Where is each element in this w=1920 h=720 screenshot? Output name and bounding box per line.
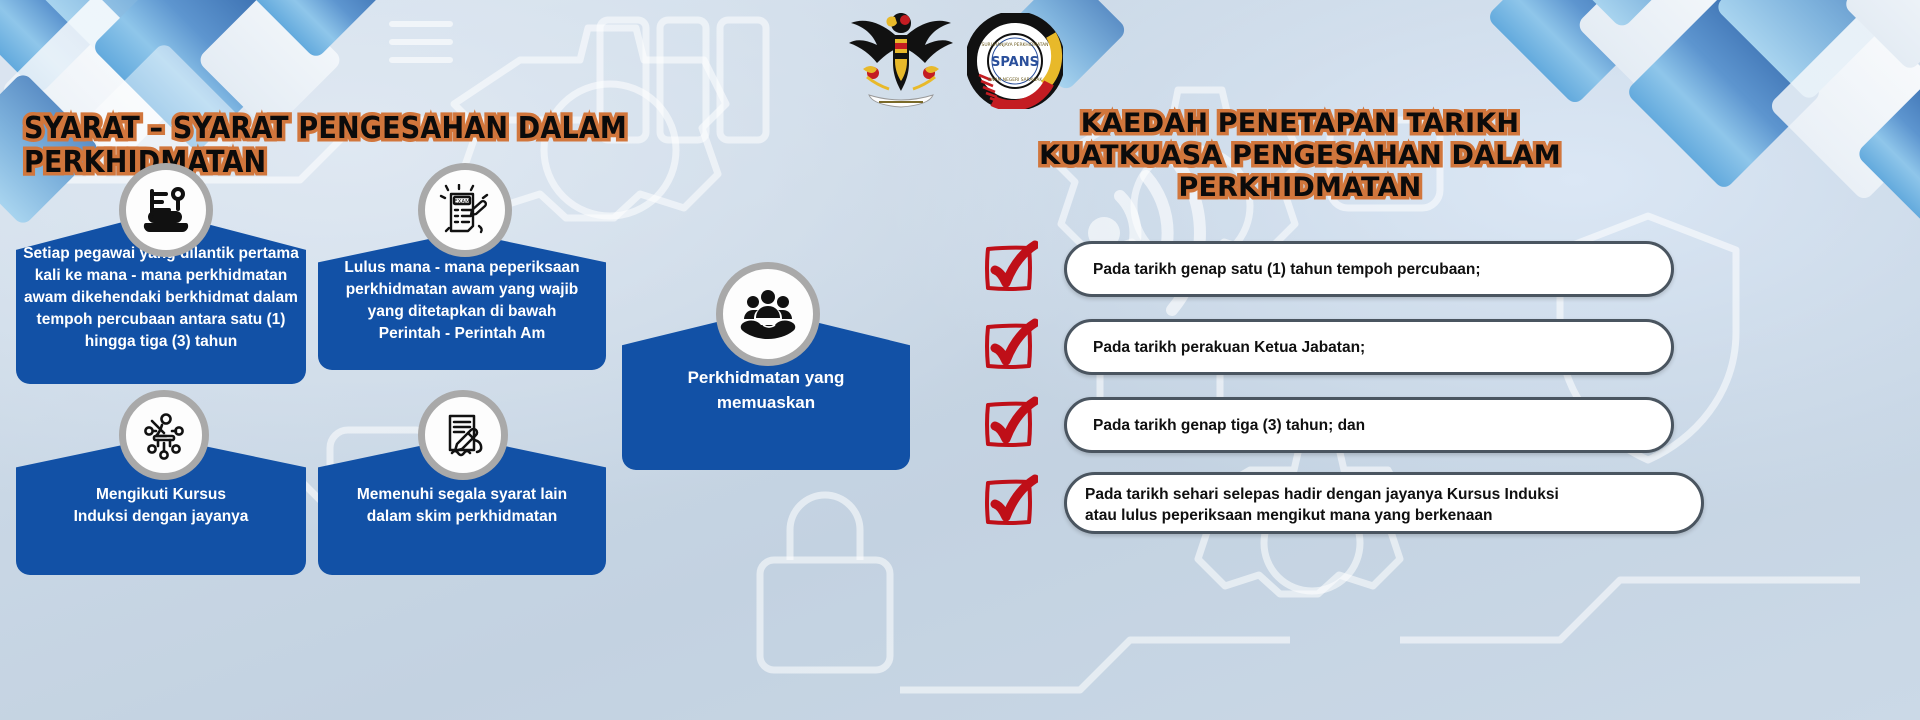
checklist-3-line-1: Pada tarikh genap tiga (3) tahun; dan	[1093, 415, 1365, 436]
card-1-text: Setiap pegawai yang dilantik pertama kal…	[23, 243, 299, 353]
exam-paper-icon: EXAM	[439, 184, 491, 236]
card-2-line-2: perkhidmatan awam yang wajib	[344, 279, 579, 301]
checklist-row-2: Pada tarikh perakuan Ketua Jabatan;	[980, 318, 1880, 376]
red-checkmark-icon	[980, 240, 1038, 298]
card-4-line-2: dalam skim perkhidmatan	[357, 506, 567, 528]
checklist-4-line-1: Pada tarikh sehari selepas hadir dengan …	[1085, 484, 1683, 505]
page-title-right: KAEDAH PENETAPAN TARIKH KUATKUASA PENGES…	[1000, 108, 1600, 204]
checklist-pill-3: Pada tarikh genap tiga (3) tahun; dan	[1064, 397, 1674, 453]
people-in-hands-icon	[739, 287, 797, 341]
training-network-icon-circle	[119, 390, 209, 480]
svg-text:EXAM: EXAM	[454, 199, 470, 205]
card-5-text: Perkhidmatan yang memuaskan	[688, 365, 845, 415]
checklist-row-1: Pada tarikh genap satu (1) tahun tempoh …	[980, 240, 1880, 298]
checklist-pill-2: Pada tarikh perakuan Ketua Jabatan;	[1064, 319, 1674, 375]
checkbox-4[interactable]	[980, 474, 1038, 532]
checklist-row-4: Pada tarikh sehari selepas hadir dengan …	[980, 472, 1900, 534]
svg-text:SPANS: SPANS	[991, 55, 1039, 70]
logo-group: SPANS SURUHANJAYA PERKHIDMATAN AWAM NEGE…	[845, 6, 1075, 116]
checkbox-1[interactable]	[980, 240, 1038, 298]
red-checkmark-icon	[980, 318, 1038, 376]
card-1-line-3: awam dikehendaki berkhidmat dalam	[23, 287, 299, 309]
id-card-icon-circle	[119, 163, 213, 257]
card-1-line-2: kali ke mana - mana perkhidmatan	[23, 265, 299, 287]
id-card-icon	[141, 185, 191, 235]
sarawak-coat-of-arms-icon	[845, 7, 957, 115]
card-4-text: Memenuhi segala syarat lain dalam skim p…	[357, 484, 567, 528]
red-checkmark-icon	[980, 474, 1038, 532]
card-2-line-4: Perintah - Perintah Am	[344, 323, 579, 345]
card-3-line-2: Induksi dengan jayanya	[74, 506, 249, 528]
card-1-line-4: tempoh percubaan antara satu (1)	[23, 309, 299, 331]
card-2-line-3: yang ditetapkan di bawah	[344, 301, 579, 323]
signature-document-icon-circle	[418, 390, 508, 480]
page-title-right-line-3: PERKHIDMATAN	[1000, 172, 1600, 204]
exam-paper-icon-circle: EXAM	[418, 163, 512, 257]
people-in-hands-icon-circle	[716, 262, 820, 366]
card-4-line-1: Memenuhi segala syarat lain	[357, 484, 567, 506]
svg-text:SURUHANJAYA PERKHIDMATAN: SURUHANJAYA PERKHIDMATAN	[982, 42, 1049, 48]
page-title-right-line-1: KAEDAH PENETAPAN TARIKH	[1000, 108, 1600, 140]
signature-document-icon	[438, 410, 488, 460]
checkbox-3[interactable]	[980, 396, 1038, 454]
card-1-line-5: hingga tiga (3) tahun	[23, 331, 299, 353]
checklist-1-line-1: Pada tarikh genap satu (1) tahun tempoh …	[1093, 259, 1481, 280]
checkbox-2[interactable]	[980, 318, 1038, 376]
card-2-line-1: Lulus mana - mana peperiksaan	[344, 257, 579, 279]
spans-logo-icon: SPANS SURUHANJAYA PERKHIDMATAN AWAM NEGE…	[967, 13, 1063, 109]
card-5-line-2: memuaskan	[688, 390, 845, 415]
card-2-text: Lulus mana - mana peperiksaan perkhidmat…	[344, 257, 579, 345]
checklist-row-3: Pada tarikh genap tiga (3) tahun; dan	[980, 396, 1880, 454]
checklist-2-line-1: Pada tarikh perakuan Ketua Jabatan;	[1093, 337, 1365, 358]
checklist-pill-4: Pada tarikh sehari selepas hadir dengan …	[1064, 472, 1704, 534]
card-3-text: Mengikuti Kursus Induksi dengan jayanya	[74, 484, 249, 528]
checklist-4-line-2: atau lulus peperiksaan mengikut mana yan…	[1085, 505, 1683, 526]
checklist-pill-1: Pada tarikh genap satu (1) tahun tempoh …	[1064, 241, 1674, 297]
training-network-icon	[138, 409, 190, 461]
card-5-line-1: Perkhidmatan yang	[688, 365, 845, 390]
red-checkmark-icon	[980, 396, 1038, 454]
page-title-right-line-2: KUATKUASA PENGESAHAN DALAM	[1000, 140, 1600, 172]
svg-text:AWAM NEGERI SARAWAK: AWAM NEGERI SARAWAK	[988, 77, 1043, 83]
card-3-line-1: Mengikuti Kursus	[74, 484, 249, 506]
